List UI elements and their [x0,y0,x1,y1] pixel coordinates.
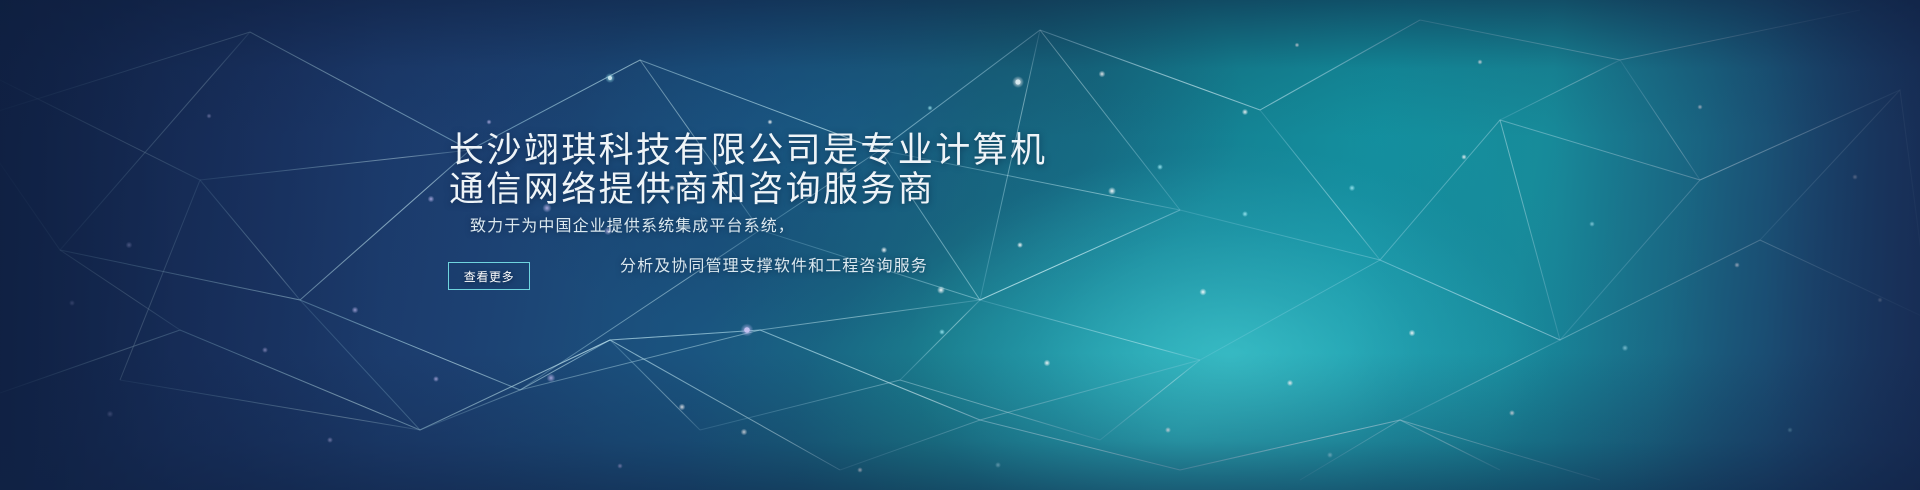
view-more-button[interactable]: 查看更多 [448,262,530,290]
hero-copy-block: 长沙翊琪科技有限公司是专业计算机 通信网络提供商和咨询服务商 致力于为中国企业提… [0,0,1920,490]
headline-line-1: 长沙翊琪科技有限公司是专业计算机 [449,131,1149,170]
headline-line-2: 通信网络提供商和咨询服务商 [449,170,1149,209]
subtitle-line-1: 致力于为中国企业提供系统集成平台系统， [470,216,795,238]
hero-banner: 长沙翊琪科技有限公司是专业计算机 通信网络提供商和咨询服务商 致力于为中国企业提… [0,0,1920,490]
subtitle-line-2: 分析及协同管理支撑软件和工程咨询服务 [620,256,928,278]
